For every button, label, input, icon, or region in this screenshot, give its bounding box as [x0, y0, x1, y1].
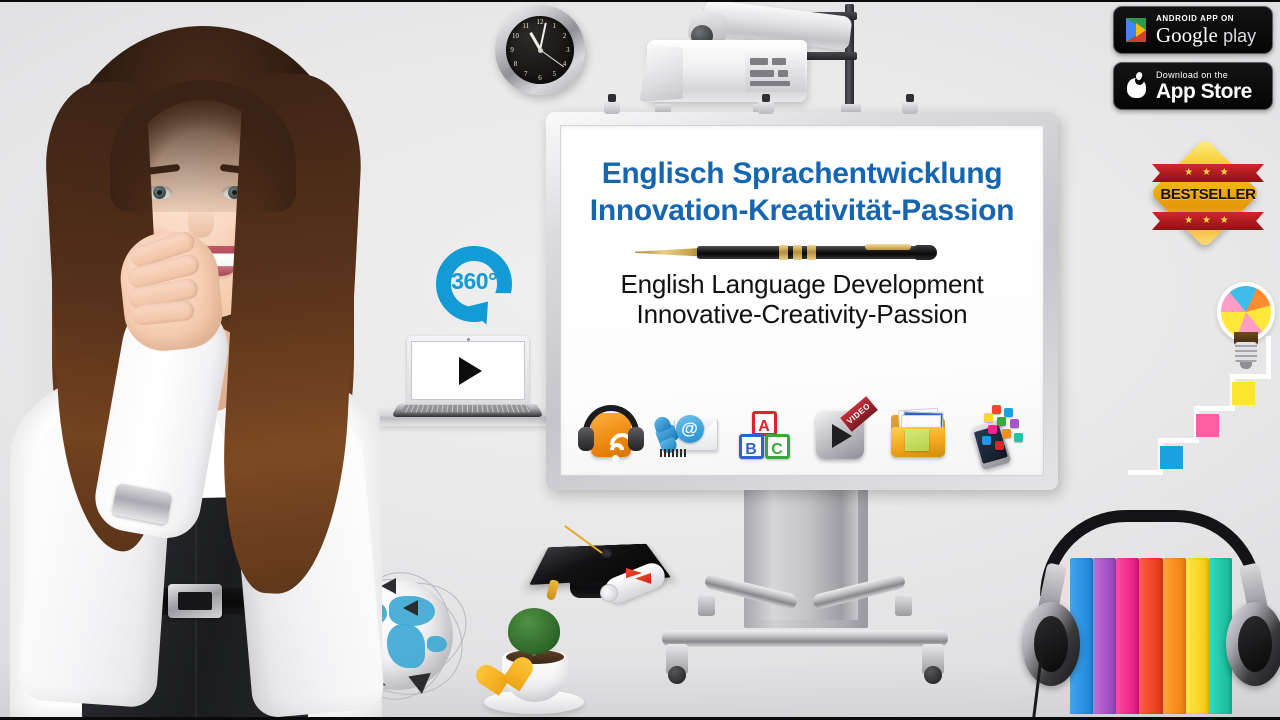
clock-numeral: 8: [514, 60, 518, 68]
google-play-triangle-icon: [1124, 17, 1150, 43]
clock-numeral: 3: [566, 46, 570, 54]
presenter-photo: [0, 0, 392, 720]
mobile-whiteboard-stand: [660, 488, 950, 704]
projector-port: [750, 70, 774, 77]
diploma-ribbon: [626, 568, 650, 590]
laptop-lid: [407, 336, 529, 404]
stair-step: [1158, 438, 1198, 443]
book-spine-yellow: [1186, 558, 1209, 714]
projector-vent: [750, 81, 790, 86]
360-degree-badge: 360°: [424, 244, 524, 336]
bestseller-ribbon-top: ★ ★ ★: [1152, 164, 1264, 182]
360-arrow-icon: [466, 302, 494, 329]
poster-canvas: 12 1 2 3 4 5 6 7 8 9 10 11: [0, 0, 1280, 720]
laptop-screen[interactable]: [411, 341, 525, 400]
book-row: [1070, 558, 1232, 714]
whiteboard-clip: [604, 100, 620, 114]
projector-lens-hood: [639, 44, 683, 102]
projector-port-panel: [745, 52, 805, 92]
audiobook-headphones-over-books: [1026, 506, 1280, 720]
board-title-line-1: Englisch Sprachentwicklung: [561, 156, 1043, 193]
colorful-idea-lightbulb: [1213, 282, 1280, 394]
app-tile: [984, 413, 993, 422]
pen-ring: [779, 245, 788, 260]
pen-end-cap: [915, 245, 937, 260]
app-tile: [1014, 433, 1023, 442]
whiteboard-clip: [902, 100, 918, 114]
pen-ring: [793, 245, 802, 260]
pen-ring: [807, 245, 816, 260]
block-a: A: [752, 411, 777, 436]
podcast-headphones-icon[interactable]: [577, 403, 643, 467]
projector-port: [778, 70, 788, 77]
board-subtitle: English Language Development Innovative-…: [561, 269, 1043, 330]
abc-blocks-icon[interactable]: A B C: [731, 403, 797, 467]
smartphone-apps-icon[interactable]: [962, 403, 1028, 467]
board-subtitle-line-2: Innovative-Creativity-Passion: [561, 299, 1043, 330]
clock-center-pin: [538, 48, 543, 53]
presenter-belt-buckle: [168, 584, 222, 618]
block-c: C: [765, 434, 790, 459]
block-b: B: [739, 434, 764, 459]
play-triangle-icon[interactable]: [459, 357, 482, 385]
stand-base-bar: [662, 630, 948, 647]
360-label: 360°: [424, 268, 524, 295]
whiteboard-surface[interactable]: Englisch Sprachentwicklung Innovation-Kr…: [560, 125, 1044, 476]
board-subtitle-line-1: English Language Development: [561, 269, 1043, 300]
stair-step: [1194, 406, 1234, 411]
clock-numeral: 7: [524, 70, 528, 78]
board-title-line-2: Innovation-Kreativität-Passion: [561, 193, 1043, 230]
google-play-wordmark-1: Google: [1156, 23, 1218, 47]
google-play-eyebrow: ANDROID APP ON: [1156, 15, 1272, 23]
clock-numeral: 10: [512, 32, 519, 40]
stand-bracket: [895, 596, 912, 616]
interactive-whiteboard[interactable]: Englisch Sprachentwicklung Innovation-Kr…: [546, 112, 1058, 490]
apple-logo-icon: [1124, 71, 1150, 101]
board-icon-row: @ A B C VIDEO: [571, 393, 1033, 467]
bestseller-ribbon-bottom: ★ ★ ★: [1152, 212, 1264, 230]
headphone-cup-left: [578, 427, 594, 451]
top-edge-bar: [0, 0, 1280, 2]
book-spine-red: [1139, 558, 1162, 714]
board-title: Englisch Sprachentwicklung Innovation-Kr…: [561, 156, 1043, 230]
clock-numeral: 9: [510, 46, 514, 54]
projector-port: [772, 58, 786, 65]
laptop-with-play-button: [395, 336, 540, 428]
clock-numeral: 1: [553, 22, 557, 30]
stair-square-pink: [1196, 414, 1219, 437]
globe-landmass: [387, 624, 425, 668]
heart-ornament-icon: [482, 658, 529, 703]
app-tile: [1002, 429, 1011, 438]
clock-numeral: 5: [553, 70, 557, 78]
whiteboard-clip: [758, 100, 774, 114]
app-tile: [1004, 408, 1013, 417]
clock-face: 12 1 2 3 4 5 6 7 8 9 10 11: [506, 16, 574, 84]
laptop-keyboard[interactable]: [401, 405, 531, 412]
app-tile: [997, 417, 1006, 426]
video-play-icon[interactable]: VIDEO: [808, 403, 874, 467]
app-tile: [982, 436, 991, 445]
documents-folder-icon[interactable]: [885, 403, 951, 467]
app-store-wordmark: App Store: [1156, 81, 1272, 102]
lightbulb-contact-tip: [1240, 362, 1252, 369]
stand-caster-left: [666, 644, 688, 674]
app-store-badge[interactable]: Download on the App Store: [1113, 62, 1273, 110]
app-tile: [1010, 419, 1019, 428]
lightbulb-screw-base: [1235, 342, 1257, 364]
at-symbol-icon: @: [676, 415, 704, 443]
cap-button: [602, 550, 611, 557]
clock-numeral: 2: [563, 32, 567, 40]
app-tile: [995, 441, 1004, 450]
globe-landmass: [427, 636, 447, 652]
headphone-cup-right: [628, 427, 644, 451]
clock-numeral: 11: [522, 22, 529, 30]
fountain-pen-icon: [627, 239, 977, 265]
book-spine-purple: [1093, 558, 1116, 714]
handset-cord: [660, 449, 686, 457]
pen-tip: [635, 248, 705, 257]
bestseller-label: BESTSELLER: [1148, 186, 1268, 203]
app-tile: [992, 405, 1001, 414]
book-spine-orange: [1163, 558, 1186, 714]
clock-numeral: 6: [538, 74, 542, 82]
book-spine-pink: [1116, 558, 1139, 714]
bestseller-badge[interactable]: ★ ★ ★ ★ ★ ★ BESTSELLER: [1152, 152, 1264, 256]
graduation-cap-and-diploma: [540, 528, 670, 638]
stand-caster-right: [922, 644, 944, 674]
stand-bracket: [698, 596, 715, 616]
folder-sticky-note: [905, 429, 929, 451]
clock-numeral: 12: [537, 18, 544, 26]
stair-step: [1128, 470, 1162, 475]
google-play-wordmark-2: play: [1223, 26, 1256, 46]
headphone-earcup-left: [1022, 602, 1080, 686]
pen-clip: [865, 244, 911, 250]
stair-square-blue: [1160, 446, 1183, 469]
globe-arrow-mid: [403, 600, 418, 616]
wall-clock: 12 1 2 3 4 5 6 7 8 9 10 11: [495, 5, 585, 95]
clock-minute-hand: [539, 22, 547, 50]
phone-email-icon[interactable]: @: [654, 403, 720, 467]
google-play-badge[interactable]: ANDROID APP ON Google play: [1113, 6, 1273, 54]
headphone-earcup-right: [1226, 602, 1280, 686]
clock-second-hand: [540, 50, 564, 68]
app-store-eyebrow: Download on the: [1156, 71, 1272, 80]
projector-port: [750, 58, 768, 65]
app-tile: [988, 425, 997, 434]
